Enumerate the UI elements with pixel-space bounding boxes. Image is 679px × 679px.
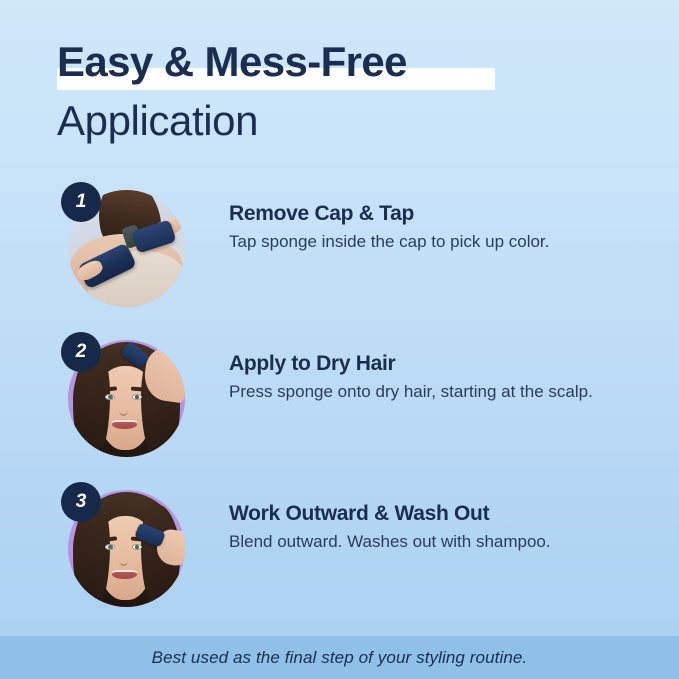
step-2-text: Apply to Dry Hair Press sponge onto dry … — [229, 350, 649, 404]
step-title: Apply to Dry Hair — [229, 350, 649, 377]
step-3-media: 3 — [68, 490, 185, 607]
steps-list: 1 Remove Cap & Tap Tap sponge inside the… — [0, 186, 679, 636]
list-item: 2 Apply to Dry Hair Press sponge onto dr… — [0, 336, 679, 486]
step-1-media: 1 — [68, 190, 185, 307]
step-1-text: Remove Cap & Tap Tap sponge inside the c… — [229, 200, 649, 254]
step-title: Remove Cap & Tap — [229, 200, 649, 227]
footer-banner: Best used as the final step of your styl… — [0, 636, 679, 679]
step-description: Press sponge onto dry hair, starting at … — [229, 380, 649, 404]
step-number-badge: 1 — [61, 182, 101, 222]
title-line1-wrapper: Easy & Mess-Free — [57, 38, 617, 90]
step-number-badge: 3 — [61, 482, 101, 522]
title-line-1: Easy & Mess-Free — [57, 38, 617, 86]
step-number-badge: 2 — [61, 332, 101, 372]
step-description: Tap sponge inside the cap to pick up col… — [229, 230, 649, 254]
page-title: Easy & Mess-Free Application — [57, 38, 617, 146]
title-line-2: Application — [57, 96, 617, 146]
list-item: 3 Work Outward & Wash Out Blend outward.… — [0, 486, 679, 636]
product-instructions-poster: Easy & Mess-Free Application 1 — [0, 0, 679, 679]
step-2-media: 2 — [68, 340, 185, 457]
list-item: 1 Remove Cap & Tap Tap sponge inside the… — [0, 186, 679, 336]
step-description: Blend outward. Washes out with shampoo. — [229, 530, 649, 554]
step-3-text: Work Outward & Wash Out Blend outward. W… — [229, 500, 649, 554]
footer-note: Best used as the final step of your styl… — [152, 648, 528, 668]
step-title: Work Outward & Wash Out — [229, 500, 649, 527]
